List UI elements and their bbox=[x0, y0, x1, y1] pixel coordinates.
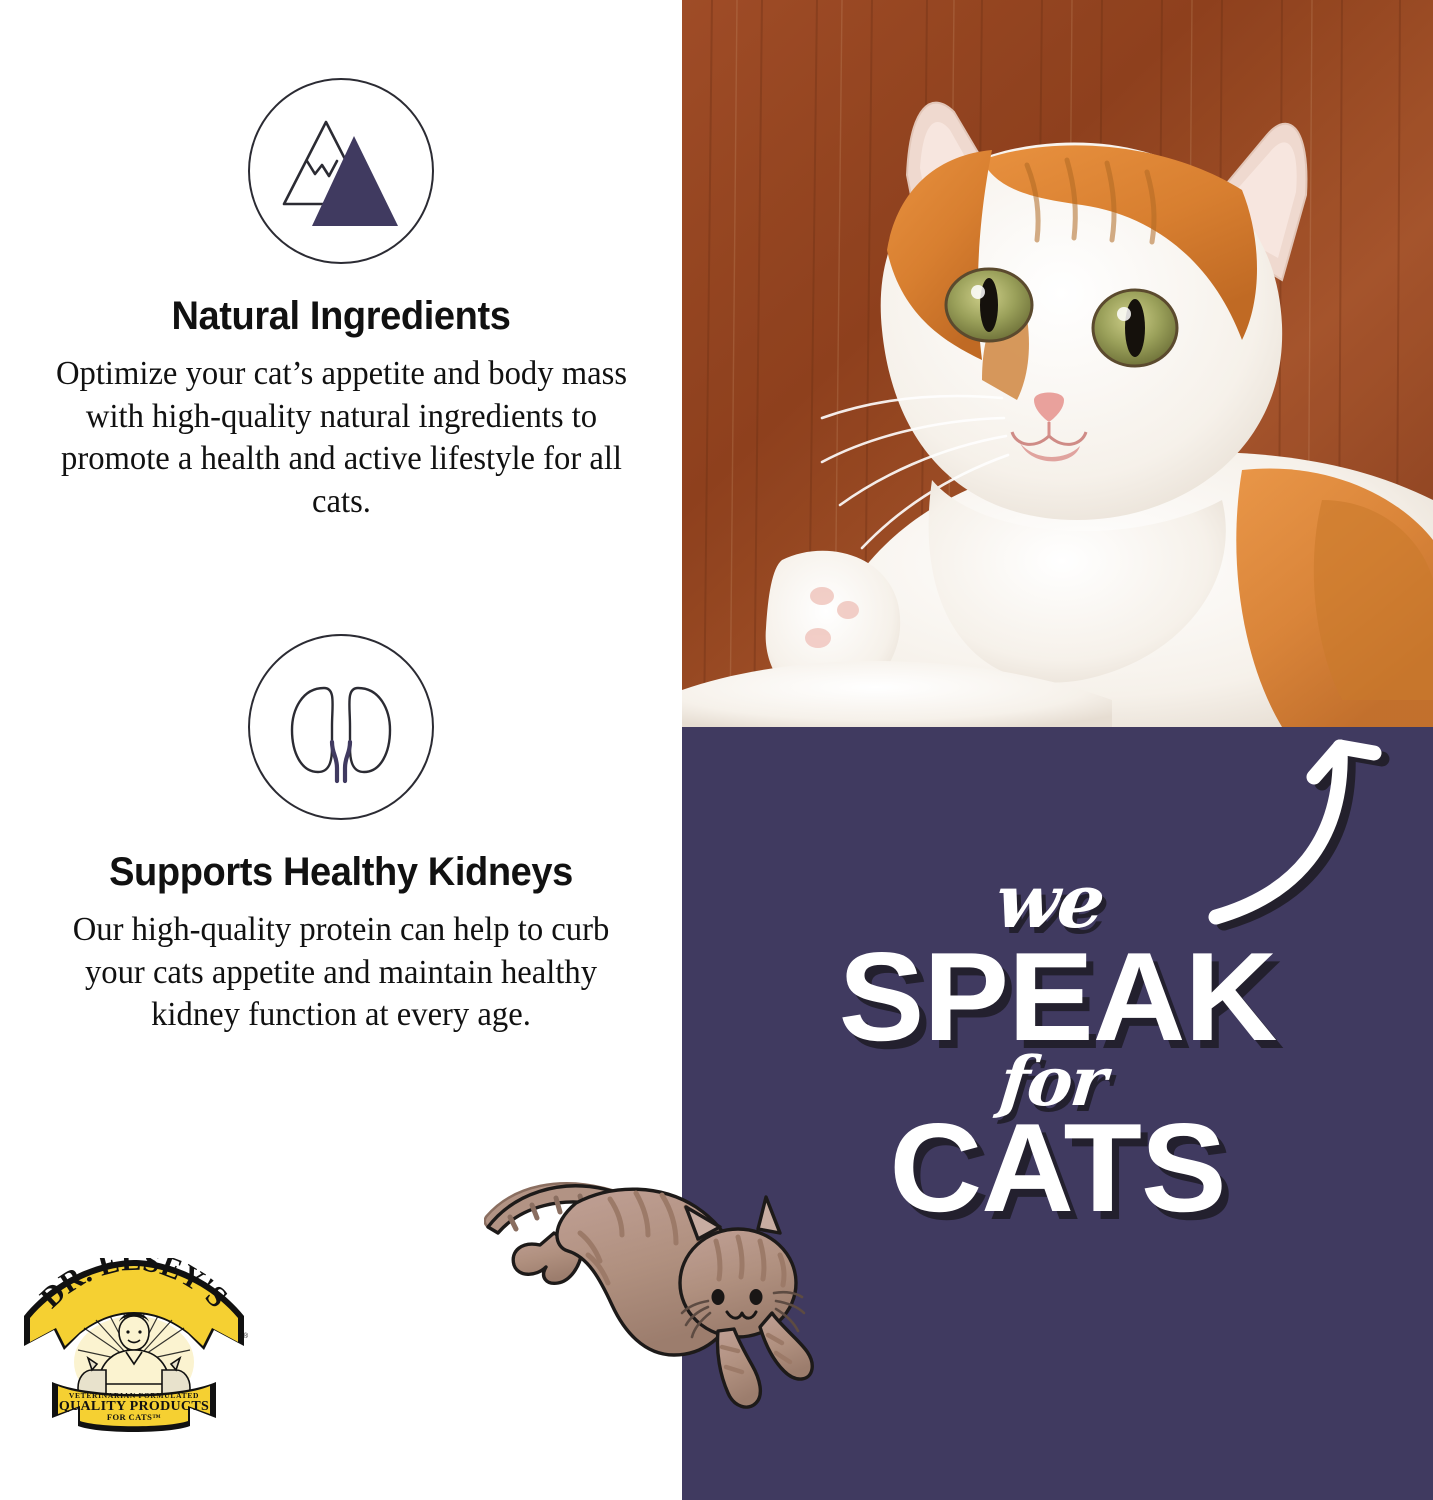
leaping-tabby-cat-illustration bbox=[484, 1155, 844, 1420]
feature-description: Our high-quality protein can help to cur… bbox=[67, 909, 614, 1037]
mountain-icon bbox=[248, 78, 434, 264]
feature-description: Optimize your cat’s appetite and body ma… bbox=[31, 353, 650, 523]
slogan-word-speak: SPEAK bbox=[682, 943, 1433, 1051]
kidney-icon bbox=[248, 634, 434, 820]
orange-white-cat-photo bbox=[682, 0, 1433, 727]
feature-title: Supports Healthy Kidneys bbox=[17, 850, 665, 895]
registered-trademark-icon: ® bbox=[243, 1332, 249, 1340]
feature-title: Natural Ingredients bbox=[17, 294, 665, 339]
feature-supports-healthy-kidneys: Supports Healthy Kidneys Our high-qualit… bbox=[0, 634, 682, 1037]
logo-banner-line3: FOR CATS™ bbox=[107, 1412, 161, 1422]
feature-natural-ingredients: Natural Ingredients Optimize your cat’s … bbox=[0, 78, 682, 523]
dr-elseys-logo: VETERINARIAN FORMULATED QUALITY PRODUCTS… bbox=[18, 1258, 250, 1434]
